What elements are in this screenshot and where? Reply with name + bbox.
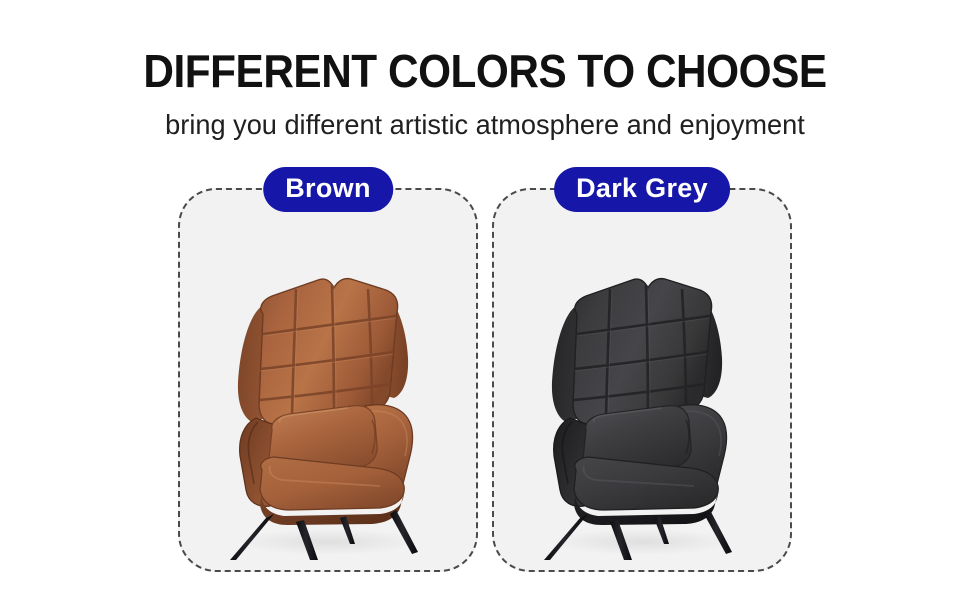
accent-chair-illustration-brown xyxy=(200,242,460,560)
color-option-card-brown[interactable]: Brown xyxy=(178,188,478,572)
chair-backrest xyxy=(259,279,398,425)
page-title: DIFFERENT COLORS TO CHOOSE xyxy=(39,0,931,94)
chair-shadow xyxy=(236,529,420,555)
color-badge-dark-grey: Dark Grey xyxy=(554,167,730,212)
color-badge-brown: Brown xyxy=(263,167,393,212)
color-option-card-dark-grey[interactable]: Dark Grey xyxy=(492,188,792,572)
chair-image-dark-grey xyxy=(494,242,794,564)
accent-chair-illustration-dark-grey xyxy=(514,242,774,560)
page-subtitle: bring you different artistic atmosphere … xyxy=(15,94,956,139)
chair-image-brown xyxy=(180,242,480,564)
marketing-banner: DIFFERENT COLORS TO CHOOSE bring you dif… xyxy=(0,0,970,600)
chair-backrest xyxy=(573,279,712,425)
header: DIFFERENT COLORS TO CHOOSE bring you dif… xyxy=(0,0,970,139)
chair-shadow xyxy=(550,529,734,555)
